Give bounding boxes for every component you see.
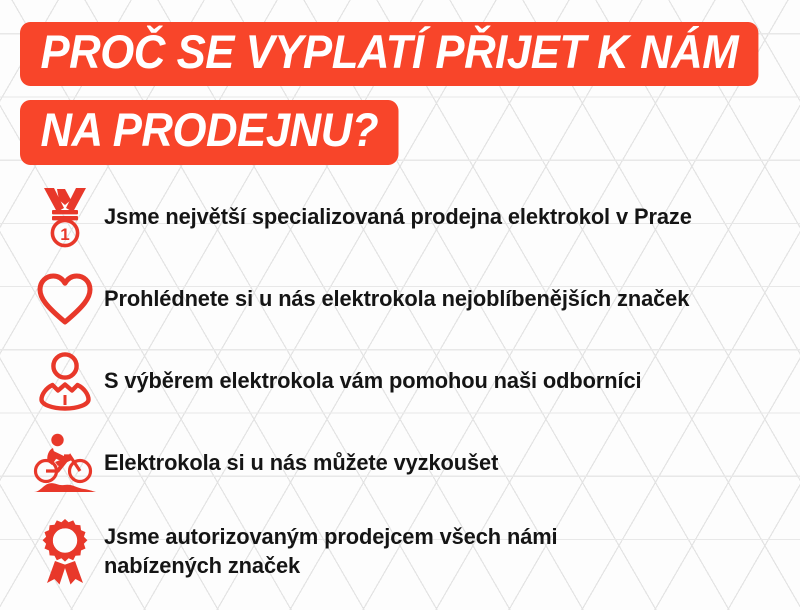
- headline-row-1: PROČ SE VYPLATÍ PŘIJET K NÁM: [20, 22, 780, 86]
- benefit-item-1: 1 Jsme největší specializovaná prodejna …: [26, 176, 786, 258]
- benefit-text-3: S výběrem elektrokola vám pomohou naši o…: [104, 367, 641, 396]
- benefit-text-3-line-1: S výběrem elektrokola vám pomohou naši o…: [104, 368, 641, 393]
- medal-number-label: 1: [60, 225, 69, 244]
- expert-person-icon: [26, 346, 104, 416]
- benefit-item-3: S výběrem elektrokola vám pomohou naši o…: [26, 340, 786, 422]
- headline-line-2: NA PRODEJNU?: [20, 100, 399, 164]
- benefit-text-1: Jsme největší specializovaná prodejna el…: [104, 203, 692, 232]
- benefit-text-4: Elektrokola si u nás můžete vyzkoušet: [104, 449, 498, 478]
- benefit-text-5: Jsme autorizovaným prodejcem všech námi …: [104, 523, 558, 581]
- benefit-list: 1 Jsme největší specializovaná prodejna …: [26, 176, 786, 600]
- benefit-text-2: Prohlédnete si u nás elektrokola nejoblí…: [104, 285, 689, 314]
- medal-first-place-icon: 1: [26, 182, 104, 252]
- heart-icon: [26, 264, 104, 334]
- promo-poster: PROČ SE VYPLATÍ PŘIJET K NÁM NA PRODEJNU…: [0, 0, 800, 610]
- cyclist-on-hill-icon: [26, 428, 104, 498]
- benefit-text-4-line-1: Elektrokola si u nás můžete vyzkoušet: [104, 450, 498, 475]
- benefit-item-2: Prohlédnete si u nás elektrokola nejoblí…: [26, 258, 786, 340]
- headline-block: PROČ SE VYPLATÍ PŘIJET K NÁM NA PRODEJNU…: [20, 22, 780, 179]
- award-rosette-icon: [26, 517, 104, 587]
- benefit-text-1-line-1: Jsme největší specializovaná prodejna el…: [104, 204, 692, 229]
- headline-row-2: NA PRODEJNU?: [20, 100, 780, 164]
- benefit-text-5-line-2: nabízených značek: [104, 552, 558, 581]
- headline-line-1: PROČ SE VYPLATÍ PŘIJET K NÁM: [20, 22, 759, 86]
- benefit-item-4: Elektrokola si u nás můžete vyzkoušet: [26, 422, 786, 504]
- benefit-item-5: Jsme autorizovaným prodejcem všech námi …: [26, 504, 786, 600]
- benefit-text-2-line-1: Prohlédnete si u nás elektrokola nejoblí…: [104, 286, 689, 311]
- benefit-text-5-line-1: Jsme autorizovaným prodejcem všech námi: [104, 524, 558, 549]
